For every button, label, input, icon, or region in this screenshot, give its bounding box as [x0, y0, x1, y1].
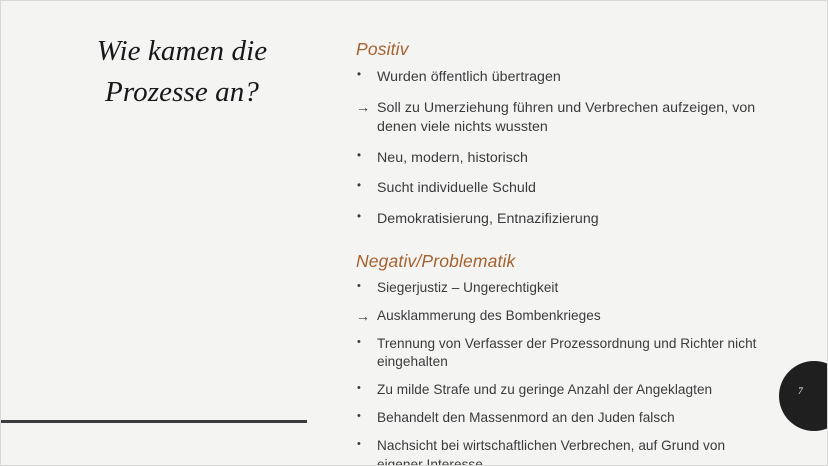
- bullet-dot-icon: •: [357, 335, 375, 350]
- list-item-text: Demokratisierung, Entnazifizierung: [377, 211, 599, 227]
- section-negativ: Negativ/Problematik • Siegerjustiz – Ung…: [356, 251, 768, 466]
- list-item: → Ausklammerung des Bombenkrieges: [356, 307, 768, 325]
- list-item-text: Zu milde Strafe und zu geringe Anzahl de…: [377, 382, 712, 397]
- bullet-dot-icon: •: [357, 409, 375, 424]
- bullet-dot-icon: •: [357, 179, 375, 194]
- arrow-right-icon: →: [356, 307, 374, 326]
- list-item-text: Sucht individuelle Schuld: [377, 180, 536, 196]
- title-block: Wie kamen die Prozesse an?: [37, 31, 327, 113]
- section-heading-negativ: Negativ/Problematik: [356, 251, 768, 273]
- section-heading-positiv: Positiv: [356, 39, 768, 61]
- bullet-list-positiv: • Wurden öffentlich übertragen → Soll zu…: [356, 68, 768, 229]
- list-item-text: Siegerjustiz – Ungerechtigkeit: [377, 280, 558, 295]
- list-item: • Behandelt den Massenmord an den Juden …: [356, 409, 768, 427]
- bullet-list-negativ: • Siegerjustiz – Ungerechtigkeit → Auskl…: [356, 279, 768, 466]
- bullet-dot-icon: •: [357, 279, 375, 294]
- arrow-right-icon: →: [356, 99, 374, 118]
- list-item: • Neu, modern, historisch: [356, 149, 768, 168]
- list-item-text: Neu, modern, historisch: [377, 150, 528, 166]
- list-item-text: Behandelt den Massenmord an den Juden fa…: [377, 410, 675, 425]
- title-underline-rule: [1, 420, 307, 423]
- list-item: • Wurden öffentlich übertragen: [356, 68, 768, 87]
- bullet-dot-icon: •: [357, 210, 375, 225]
- list-item-text: Nachsicht bei wirtschaftlichen Verbreche…: [377, 438, 725, 466]
- bullet-dot-icon: •: [357, 381, 375, 396]
- bullet-dot-icon: •: [357, 68, 375, 83]
- list-item: • Demokratisierung, Entnazifizierung: [356, 210, 768, 229]
- section-positiv: Positiv • Wurden öffentlich übertragen →…: [356, 39, 768, 229]
- page-number-text: 7: [798, 387, 803, 397]
- bullet-dot-icon: •: [357, 149, 375, 164]
- content-column: Positiv • Wurden öffentlich übertragen →…: [356, 39, 768, 466]
- list-item: • Trennung von Verfasser der Prozessordn…: [356, 335, 768, 371]
- list-item-text: Soll zu Umerziehung führen und Verbreche…: [377, 100, 755, 135]
- list-item-text: Trennung von Verfasser der Prozessordnun…: [377, 336, 757, 369]
- list-item-text: Ausklammerung des Bombenkrieges: [377, 308, 601, 323]
- list-item: • Sucht individuelle Schuld: [356, 179, 768, 198]
- list-item: • Nachsicht bei wirtschaftlichen Verbrec…: [356, 437, 768, 466]
- list-item-text: Wurden öffentlich übertragen: [377, 69, 561, 85]
- bullet-dot-icon: •: [357, 437, 375, 452]
- list-item: • Siegerjustiz – Ungerechtigkeit: [356, 279, 768, 297]
- list-item: → Soll zu Umerziehung führen und Verbrec…: [356, 99, 768, 137]
- presentation-slide: Wie kamen die Prozesse an? Positiv • Wur…: [0, 0, 828, 466]
- page-number-badge: 7: [779, 361, 828, 431]
- page-title: Wie kamen die Prozesse an?: [37, 31, 327, 113]
- list-item: • Zu milde Strafe und zu geringe Anzahl …: [356, 381, 768, 399]
